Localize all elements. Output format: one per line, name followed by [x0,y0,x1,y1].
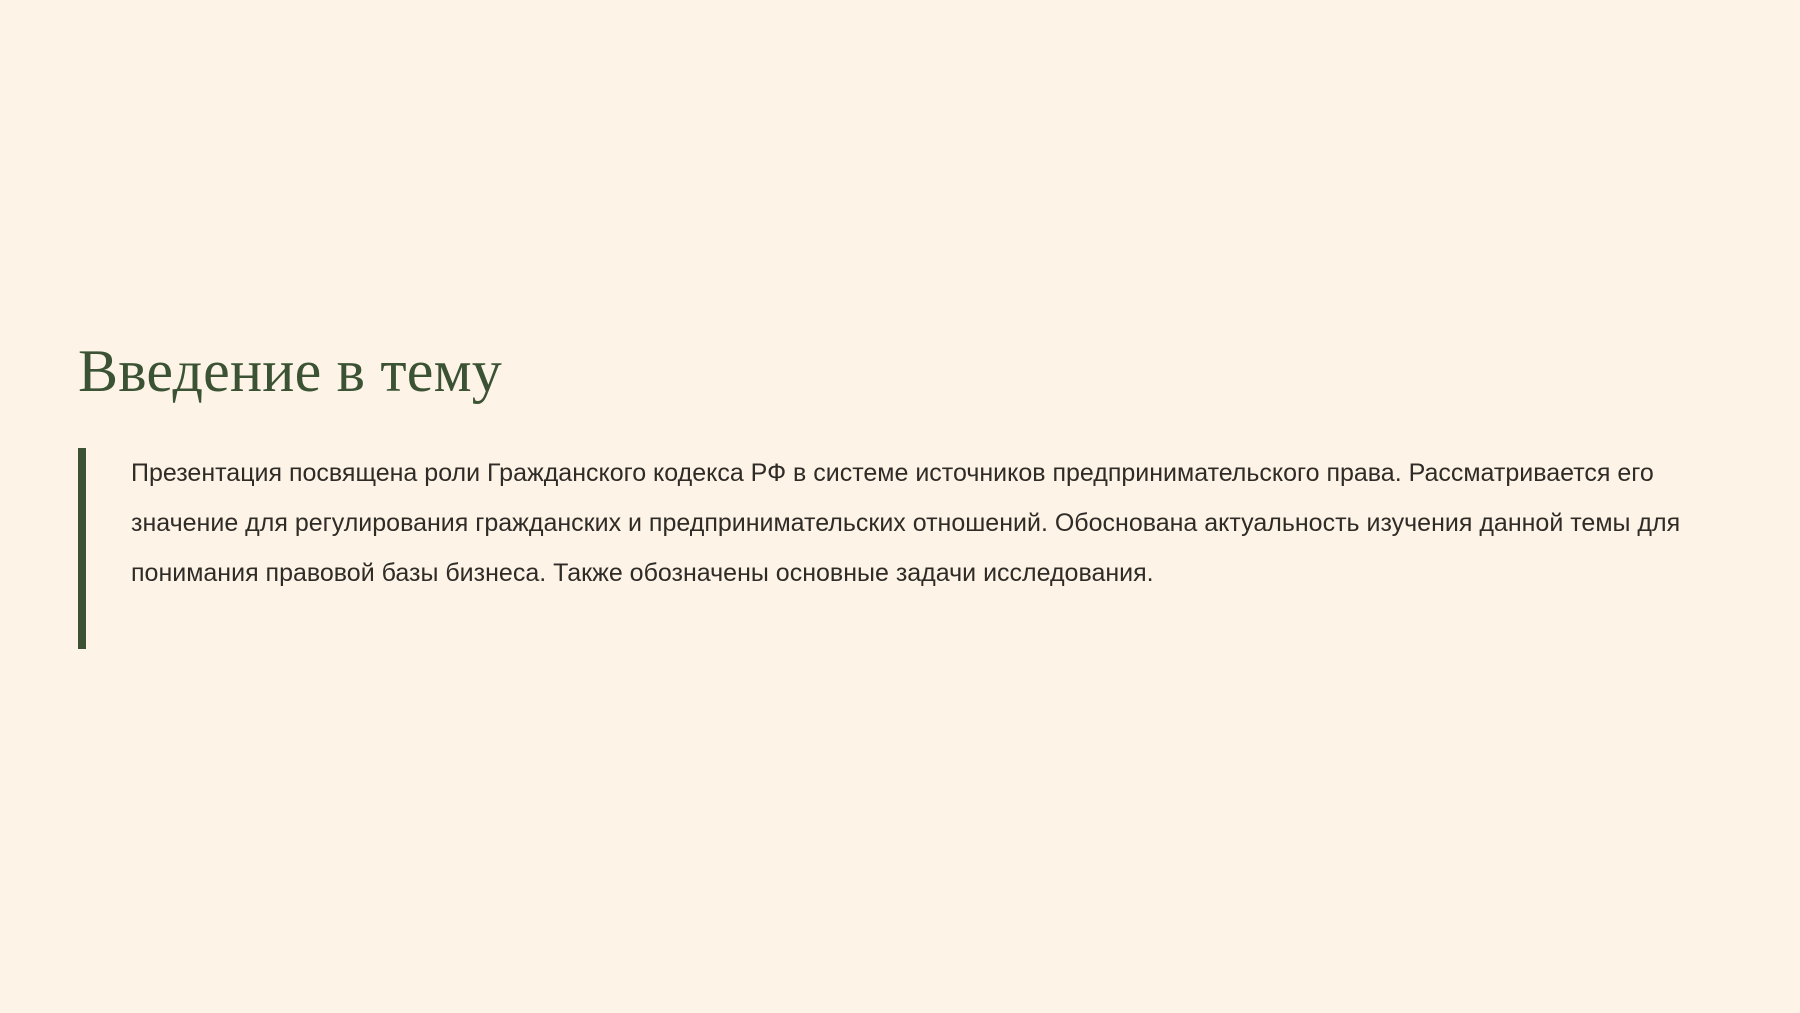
slide-content: Введение в тему Презентация посвящена ро… [78,340,1718,598]
slide-body-text: Презентация посвящена роли Гражданского … [131,448,1686,598]
accent-bar [78,448,86,649]
highlighted-paragraph-block: Презентация посвящена роли Гражданского … [78,448,1718,598]
presentation-slide: Введение в тему Презентация посвящена ро… [0,0,1800,1013]
page-title: Введение в тему [78,340,1718,404]
